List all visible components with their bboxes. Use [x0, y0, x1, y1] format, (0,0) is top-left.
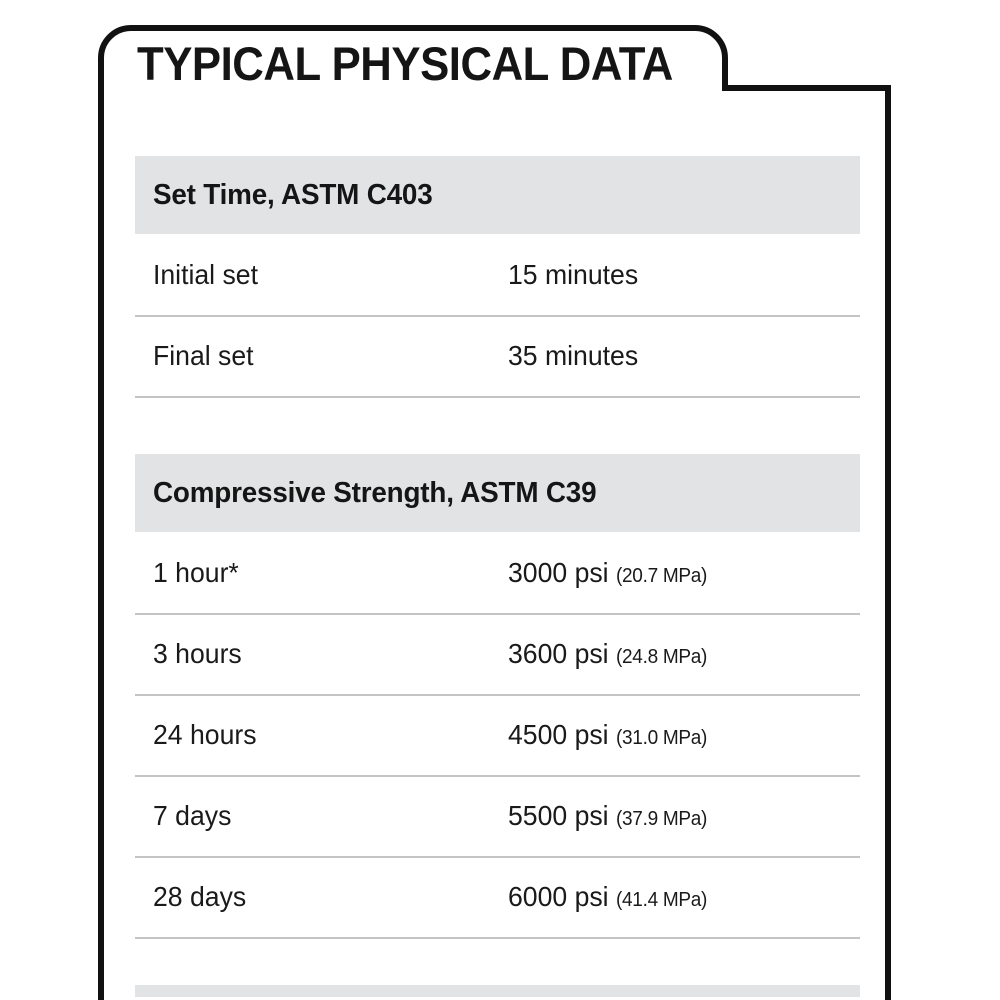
row-label: Initial set — [153, 259, 490, 291]
row-label: 24 hours — [153, 719, 490, 751]
row-value-primary: 3600 psi — [508, 638, 609, 669]
section-header-set-time: Set Time, ASTM C403 — [135, 156, 860, 234]
document-page: TYPICAL PHYSICAL DATA Set Time, ASTM C40… — [0, 0, 1000, 1000]
row-value-primary: 15 minutes — [508, 259, 638, 290]
table-row: 28 days 6000 psi (41.4 MPa) — [135, 856, 860, 937]
row-value-primary: 5500 psi — [508, 800, 609, 831]
row-label: 1 hour* — [153, 557, 490, 589]
row-value: 5500 psi (37.9 MPa) — [508, 800, 707, 832]
row-value-primary: 3000 psi — [508, 557, 609, 588]
section-rows-compressive-strength: 1 hour* 3000 psi (20.7 MPa) 3 hours 3600… — [135, 532, 860, 939]
row-label: 7 days — [153, 800, 490, 832]
row-value-primary: 35 minutes — [508, 340, 638, 371]
row-label: 3 hours — [153, 638, 490, 670]
section-header-label: Compressive Strength, ASTM C39 — [153, 477, 596, 510]
row-value-metric: (24.8 MPa) — [616, 646, 707, 668]
table-row: 24 hours 4500 psi (31.0 MPa) — [135, 694, 860, 775]
section-set-time: Set Time, ASTM C403 Initial set 15 minut… — [135, 156, 860, 398]
table-row: 3 hours 3600 psi (24.8 MPa) — [135, 613, 860, 694]
row-value-metric: (31.0 MPa) — [616, 727, 707, 749]
section-compressive-strength: Compressive Strength, ASTM C39 1 hour* 3… — [135, 454, 860, 939]
table-row: Initial set 15 minutes — [135, 234, 860, 315]
row-value-primary: 4500 psi — [508, 719, 609, 750]
row-value-primary: 6000 psi — [508, 881, 609, 912]
row-label: 28 days — [153, 881, 490, 913]
row-value-metric: (20.7 MPa) — [616, 565, 707, 587]
row-value: 35 minutes — [508, 340, 638, 372]
section-rows-set-time: Initial set 15 minutes Final set 35 minu… — [135, 234, 860, 398]
section-header-next-partial — [135, 985, 860, 997]
table-row: 1 hour* 3000 psi (20.7 MPa) — [135, 532, 860, 613]
row-value: 6000 psi (41.4 MPa) — [508, 881, 707, 913]
section-gap — [135, 398, 860, 454]
table-row: 7 days 5500 psi (37.9 MPa) — [135, 775, 860, 856]
row-value: 15 minutes — [508, 259, 638, 291]
row-label: Final set — [153, 340, 490, 372]
row-value: 4500 psi (31.0 MPa) — [508, 719, 707, 751]
section-header-label: Set Time, ASTM C403 — [153, 179, 432, 212]
row-value: 3000 psi (20.7 MPa) — [508, 557, 707, 589]
table-row: Final set 35 minutes — [135, 315, 860, 396]
data-table: Set Time, ASTM C403 Initial set 15 minut… — [135, 156, 860, 997]
row-value: 3600 psi (24.8 MPa) — [508, 638, 707, 670]
page-title: TYPICAL PHYSICAL DATA — [137, 35, 676, 93]
section-header-compressive-strength: Compressive Strength, ASTM C39 — [135, 454, 860, 532]
section-gap — [135, 939, 860, 985]
row-value-metric: (41.4 MPa) — [616, 889, 707, 911]
row-value-metric: (37.9 MPa) — [616, 808, 707, 830]
